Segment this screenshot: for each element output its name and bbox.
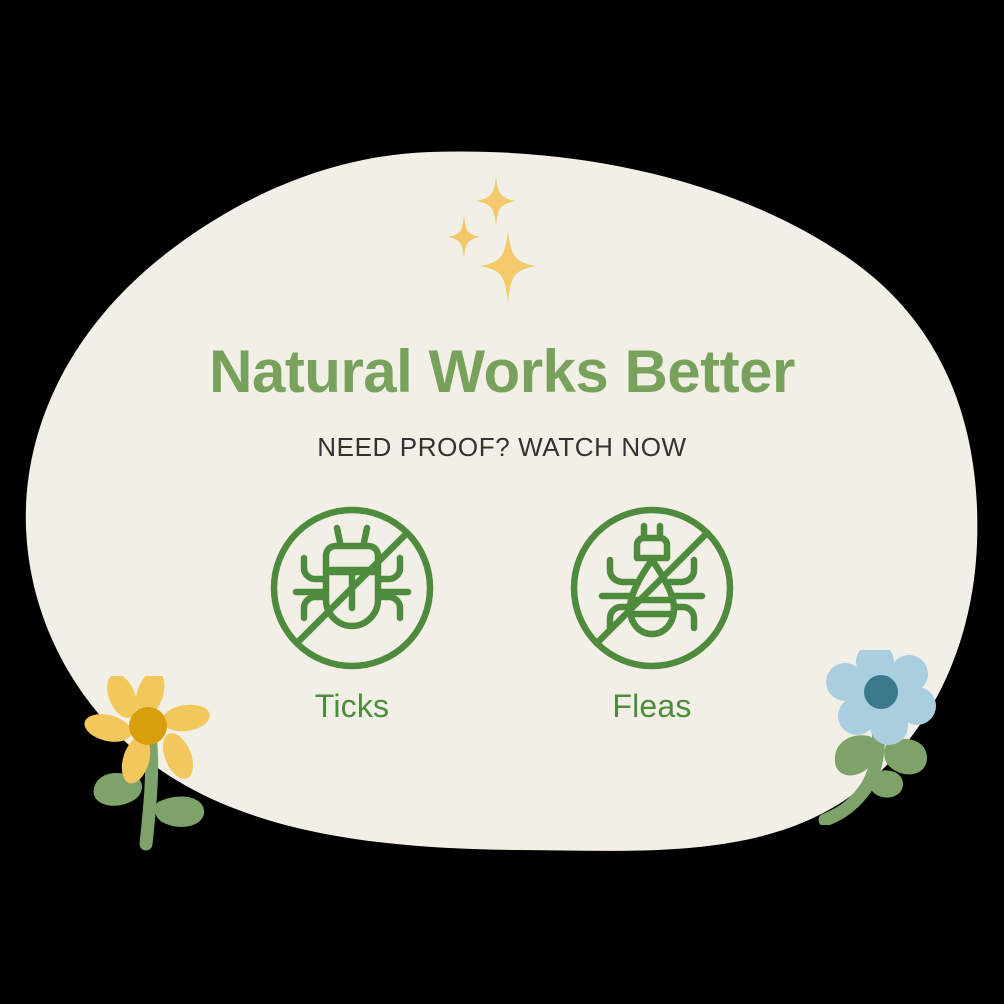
pest-badge-ticks[interactable]: Ticks: [262, 500, 442, 725]
no-tick-icon: [264, 500, 440, 676]
pest-badge-label-ticks: Ticks: [315, 688, 389, 725]
blue-flower-icon: [815, 650, 970, 825]
pest-badge-fleas[interactable]: Fleas: [562, 500, 742, 725]
sparkles-icon: [438, 168, 558, 308]
blue-flower-center: [864, 675, 898, 709]
no-flea-icon: [564, 500, 740, 676]
pest-badge-label-fleas: Fleas: [612, 688, 691, 725]
yellow-flower-center: [129, 707, 167, 745]
yellow-flower-icon: [78, 676, 228, 851]
poster-canvas: Natural Works Better NEED PROOF? WATCH N…: [0, 0, 1004, 1004]
page-title: Natural Works Better: [0, 340, 1004, 403]
page-subtitle: NEED PROOF? WATCH NOW: [0, 432, 1004, 463]
